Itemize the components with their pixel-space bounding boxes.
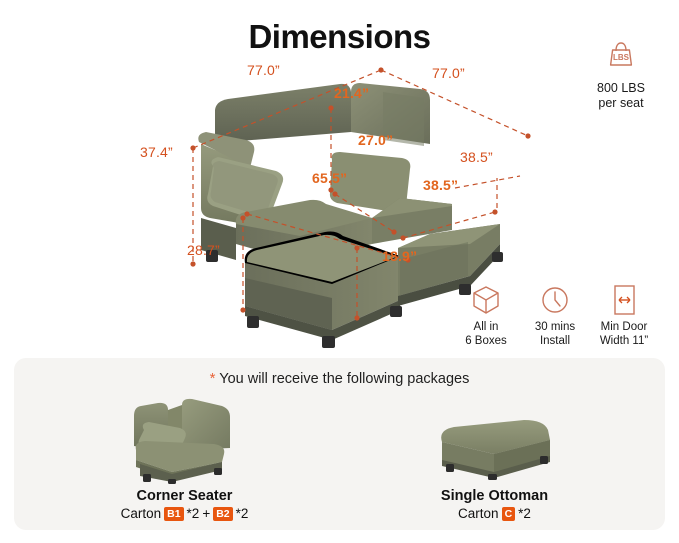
package-name-single-ottoman: Single Ottoman: [380, 488, 610, 504]
packages-heading-asterisk: *: [210, 370, 216, 387]
package-carton-single-ottoman: Carton C *2: [380, 506, 610, 521]
carton-label: Carton: [121, 506, 162, 521]
package-item-corner-seater: Corner Seater Carton B1 *2 + B2 *2: [70, 392, 300, 524]
dimension-label-arm-height: 28.7”: [187, 242, 220, 258]
feature-install-line1: 30 mins: [524, 321, 586, 335]
door-width-icon: [593, 282, 655, 318]
carton-qty-b1: *2: [187, 506, 200, 521]
package-name-corner-seater: Corner Seater: [70, 488, 300, 504]
package-item-single-ottoman: Single Ottoman Carton C *2: [380, 392, 610, 524]
feature-install-line2: Install: [524, 335, 586, 349]
carton-qty-c: *2: [518, 506, 531, 521]
feature-boxes: All in 6 Boxes: [455, 282, 517, 348]
dimensions-infographic: Dimensions LBS 800 LBS per seat: [0, 0, 679, 543]
dimension-label-seat-depth: 27.0”: [358, 132, 393, 148]
dimension-label-chaise-width: 38.5”: [460, 149, 493, 165]
dimension-label-top-left-width: 77.0”: [247, 62, 280, 78]
feature-boxes-line2: 6 Boxes: [455, 335, 517, 349]
dimension-label-backrest-height: 21.4”: [334, 85, 369, 101]
carton-chip-b2: B2: [213, 507, 232, 521]
carton-label: Carton: [458, 506, 499, 521]
carton-qty-b2: *2: [236, 506, 249, 521]
single-ottoman-image: [380, 392, 610, 484]
clock-icon: [524, 282, 586, 318]
packages-heading-text: You will receive the following packages: [219, 371, 469, 387]
dimension-label-top-right-width: 77.0”: [432, 65, 465, 81]
carton-plus: +: [202, 506, 210, 521]
packages-list: Corner Seater Carton B1 *2 + B2 *2: [14, 392, 665, 524]
box-icon: [455, 282, 517, 318]
feature-door-line2: Width 11”: [593, 335, 655, 349]
carton-chip-b1: B1: [164, 507, 183, 521]
packages-heading: * You will receive the following package…: [14, 370, 665, 387]
dimension-label-chaise-depth: 38.5”: [423, 177, 458, 193]
dimension-label-overall-height: 37.4”: [140, 144, 173, 160]
corner-seater-image: [70, 392, 300, 484]
feature-icons-row: All in 6 Boxes 30 mins Install: [455, 282, 655, 348]
feature-door-line1: Min Door: [593, 321, 655, 335]
feature-install-time: 30 mins Install: [524, 282, 586, 348]
dimension-label-seat-height: 18.9”: [382, 248, 417, 264]
feature-door-width: Min Door Width 11”: [593, 282, 655, 348]
packages-panel: * You will receive the following package…: [14, 358, 665, 530]
package-carton-corner-seater: Carton B1 *2 + B2 *2: [70, 506, 300, 521]
carton-chip-c: C: [502, 507, 516, 521]
feature-boxes-line1: All in: [455, 321, 517, 335]
dimension-label-seat-width: 65.5”: [312, 170, 347, 186]
